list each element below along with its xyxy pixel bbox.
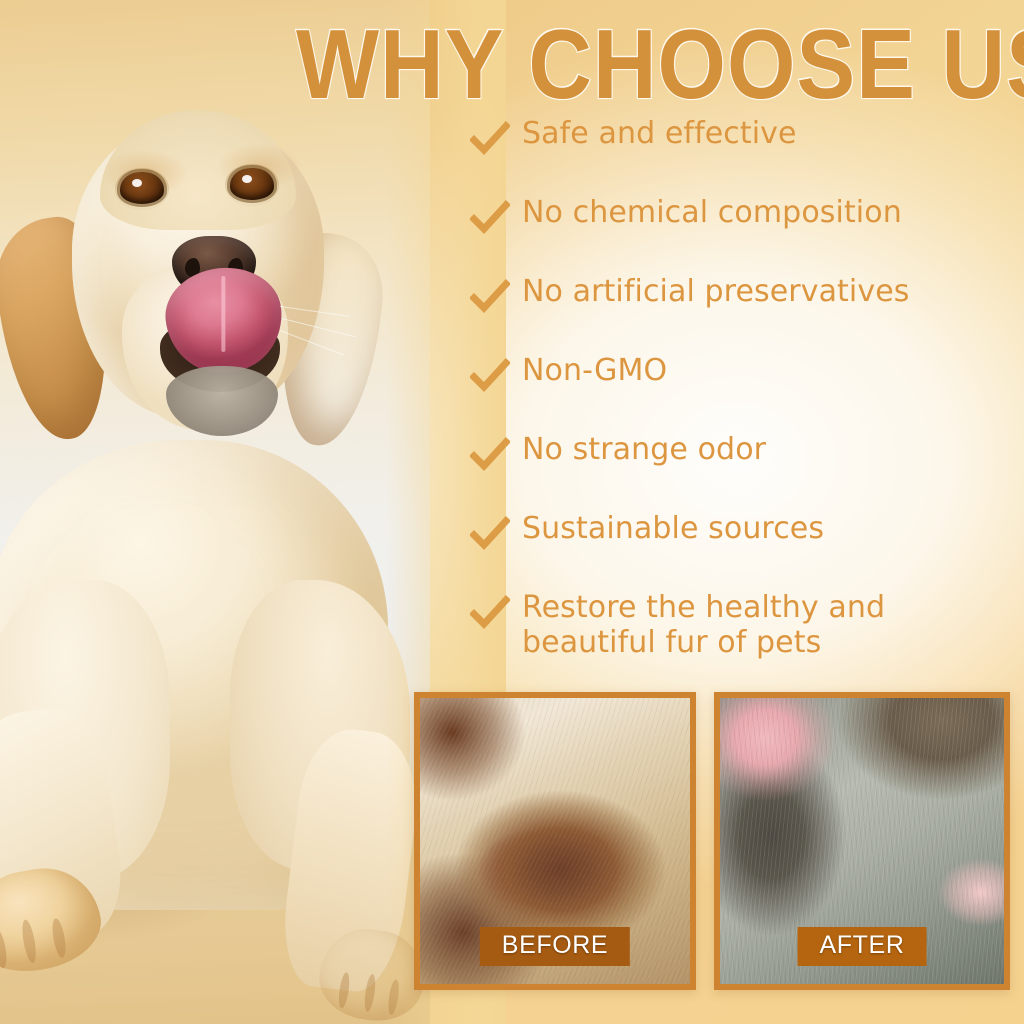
before-panel: BEFORE	[414, 692, 696, 990]
check-icon	[470, 515, 510, 555]
list-item: No strange odor	[470, 432, 766, 476]
list-item-label: Restore the healthy and beautiful fur of…	[522, 590, 885, 660]
list-item: Sustainable sources	[470, 511, 824, 555]
promo-poster: WHY CHOOSE US? Safe and effective No che…	[0, 0, 1024, 1024]
check-icon	[470, 357, 510, 397]
list-item-label: No artificial preservatives	[522, 274, 910, 309]
check-icon	[470, 120, 510, 160]
list-item-label: Sustainable sources	[522, 511, 824, 546]
dog-eye-left	[120, 172, 164, 204]
after-label: AFTER	[798, 927, 927, 966]
check-icon	[470, 199, 510, 239]
page-title: WHY CHOOSE US?	[296, 14, 1024, 118]
check-icon	[470, 436, 510, 476]
after-panel: AFTER	[714, 692, 1010, 990]
check-icon	[470, 594, 510, 634]
dog-eye-right	[230, 168, 274, 200]
list-item: No chemical composition	[470, 195, 902, 239]
list-item-label: Safe and effective	[522, 116, 797, 151]
list-item: No artificial preservatives	[470, 274, 910, 318]
list-item: Non-GMO	[470, 353, 667, 397]
list-item-label: No chemical composition	[522, 195, 902, 230]
list-item-label: No strange odor	[522, 432, 766, 467]
check-icon	[470, 278, 510, 318]
list-item: Restore the healthy and beautiful fur of…	[470, 590, 885, 660]
before-label: BEFORE	[480, 927, 630, 966]
list-item: Safe and effective	[470, 116, 797, 160]
list-item-label: Non-GMO	[522, 353, 667, 388]
